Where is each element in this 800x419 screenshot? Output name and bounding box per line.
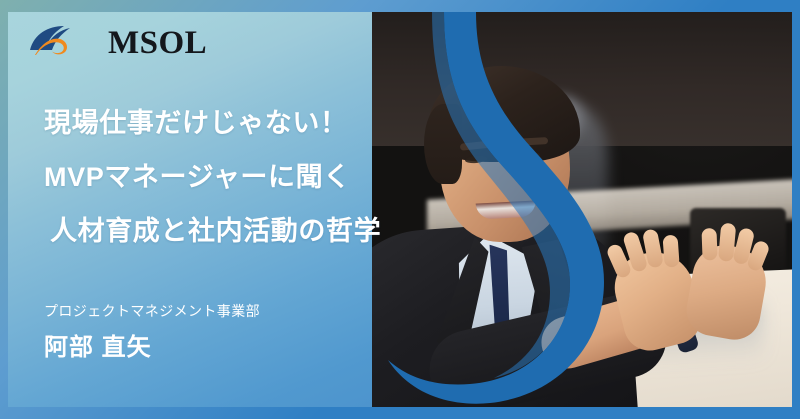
headline-line-3: 人材育成と社内活動の哲学 [50, 218, 464, 245]
msol-wave-logo-icon [28, 24, 102, 62]
banner-content: MSOL 現場仕事だけじゃない！ MVPマネージャーに聞く 人材育成と社内活動の… [8, 12, 478, 407]
photo-finger [701, 228, 717, 261]
msol-logo[interactable]: MSOL [28, 24, 207, 62]
speaker-department: プロジェクトマネジメント事業部 [44, 304, 260, 318]
article-header-banner: MSOL 現場仕事だけじゃない！ MVPマネージャーに聞く 人材育成と社内活動の… [0, 0, 800, 419]
headline-line-2: MVPマネージャーに聞く [44, 164, 464, 191]
byline-block: プロジェクトマネジメント事業部 阿部 直矢 [44, 304, 260, 360]
msol-wordmark: MSOL [108, 27, 207, 60]
photo-finger [663, 235, 680, 268]
headline-block: 現場仕事だけじゃない！ MVPマネージャーに聞く 人材育成と社内活動の哲学 [44, 110, 464, 272]
headline-line-1: 現場仕事だけじゃない！ [44, 110, 464, 137]
banner-canvas: MSOL 現場仕事だけじゃない！ MVPマネージャーに聞く 人材育成と社内活動の… [8, 12, 792, 407]
speaker-name: 阿部 直矢 [44, 336, 260, 360]
